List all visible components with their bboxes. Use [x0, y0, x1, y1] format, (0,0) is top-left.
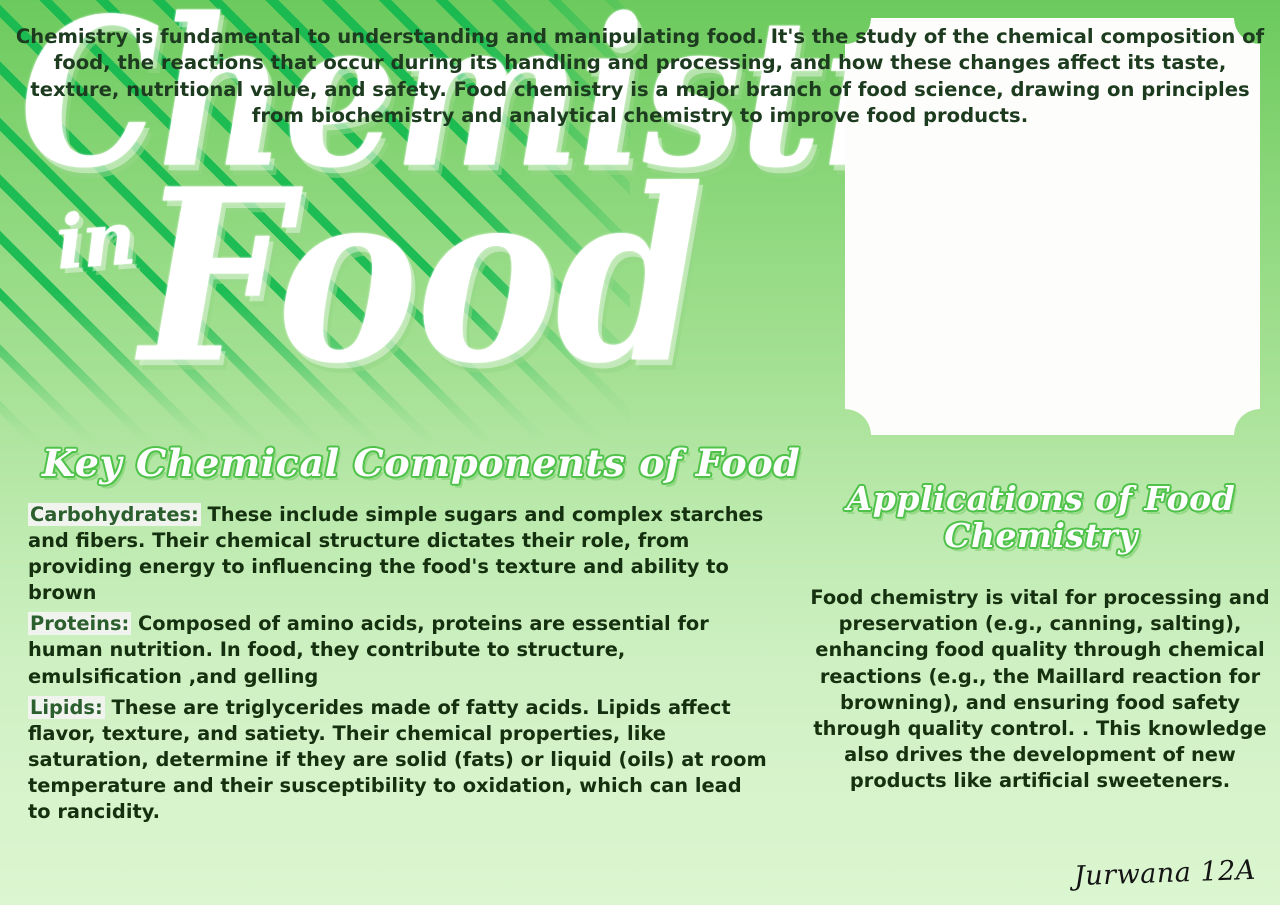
term-label-carbohydrates: Carbohydrates:: [28, 503, 201, 526]
poster-canvas: Chemistry in Food Chemistry is fundament…: [0, 0, 1280, 905]
term-description-proteins: Composed of amino acids, proteins are es…: [28, 612, 709, 687]
applications-paragraph: Food chemistry is vital for processing a…: [810, 585, 1270, 795]
title-line-in: in: [54, 207, 136, 274]
section-heading-applications: Applications of Food Chemistry: [820, 481, 1262, 555]
list-item: Carbohydrates: These include simple suga…: [28, 502, 768, 606]
term-label-proteins: Proteins:: [28, 612, 131, 635]
term-label-lipids: Lipids:: [28, 696, 105, 719]
list-item: Proteins: Composed of amino acids, prote…: [28, 611, 768, 689]
components-list: Carbohydrates: These include simple suga…: [28, 502, 768, 830]
intro-paragraph: Chemistry is fundamental to understandin…: [12, 24, 1268, 129]
author-signature: Jurwana 12A: [1074, 855, 1257, 892]
term-description-lipids: These are triglycerides made of fatty ac…: [28, 696, 767, 823]
list-item: Lipids: These are triglycerides made of …: [28, 695, 768, 825]
section-heading-components: Key Chemical Components of Food: [42, 441, 800, 485]
title-line-food: Food: [140, 177, 702, 376]
